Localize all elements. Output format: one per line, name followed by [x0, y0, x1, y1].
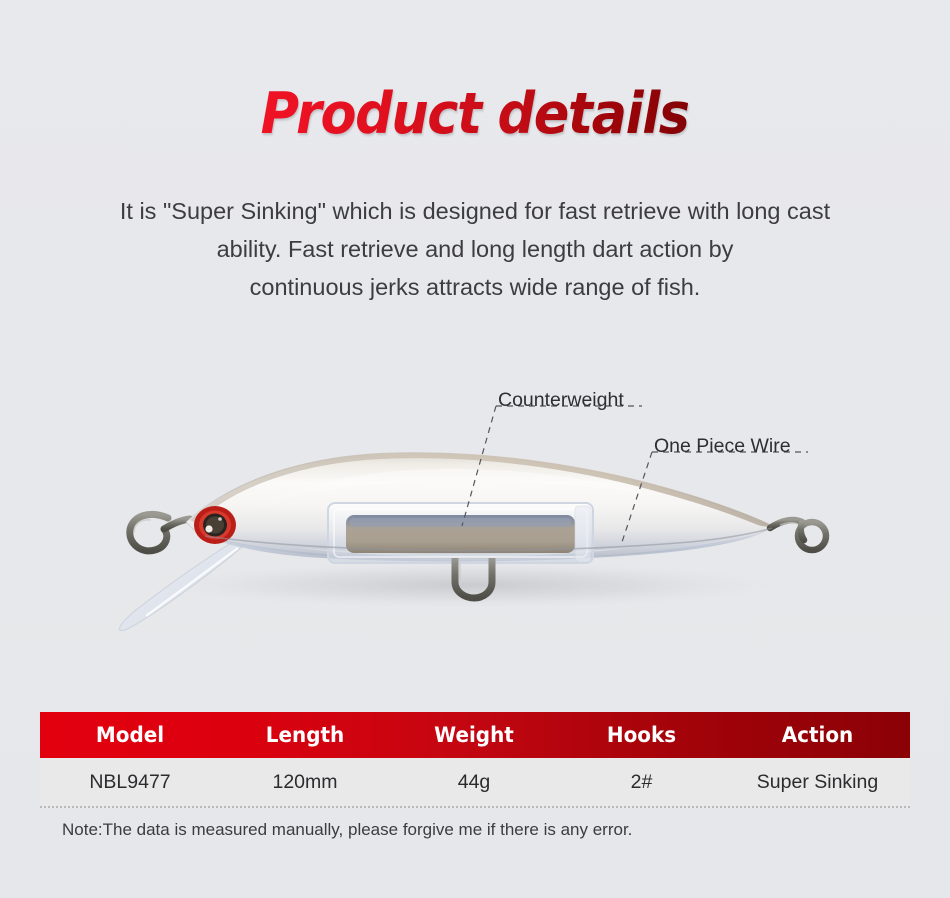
- product-details-page: Product details It is "Super Sinking" wh…: [0, 0, 950, 898]
- description-line-3: continuous jerks attracts wide range of …: [40, 268, 910, 306]
- description-line-1: It is "Super Sinking" which is designed …: [40, 192, 910, 230]
- spec-table: Model Length Weight Hooks Action NBL9477…: [40, 712, 910, 808]
- column-header-model: Model: [45, 723, 216, 747]
- callout-label-counterweight: Counterweight: [498, 389, 624, 412]
- counterweight-chamber: [328, 503, 593, 563]
- nose-line-tie-eyelet: [130, 514, 190, 550]
- tail-eyelet: [770, 520, 826, 550]
- column-header-length: Length: [224, 723, 386, 747]
- spec-table-header-row: Model Length Weight Hooks Action: [40, 712, 910, 758]
- cell-action: Super Sinking: [725, 771, 910, 794]
- cell-model: NBL9477: [40, 771, 220, 794]
- cell-length: 120mm: [220, 771, 390, 794]
- description-line-2: ability. Fast retrieve and long length d…: [40, 230, 910, 268]
- fishing-lure-illustration: [0, 370, 950, 670]
- table-row: NBL9477 120mm 44g 2# Super Sinking: [40, 758, 910, 808]
- page-title: Product details: [261, 86, 689, 143]
- page-title-container: Product details: [0, 86, 950, 143]
- product-image-area: Counterweight One Piece Wire: [0, 370, 950, 670]
- lure-eye: [194, 506, 236, 544]
- cell-hooks: 2#: [558, 771, 725, 794]
- column-header-weight: Weight: [394, 723, 554, 747]
- product-description: It is "Super Sinking" which is designed …: [40, 192, 910, 306]
- callout-label-one-piece-wire: One Piece Wire: [654, 435, 791, 458]
- measurement-note: Note:The data is measured manually, plea…: [62, 820, 632, 840]
- cell-weight: 44g: [390, 771, 558, 794]
- column-header-action: Action: [730, 723, 906, 747]
- column-header-hooks: Hooks: [562, 723, 721, 747]
